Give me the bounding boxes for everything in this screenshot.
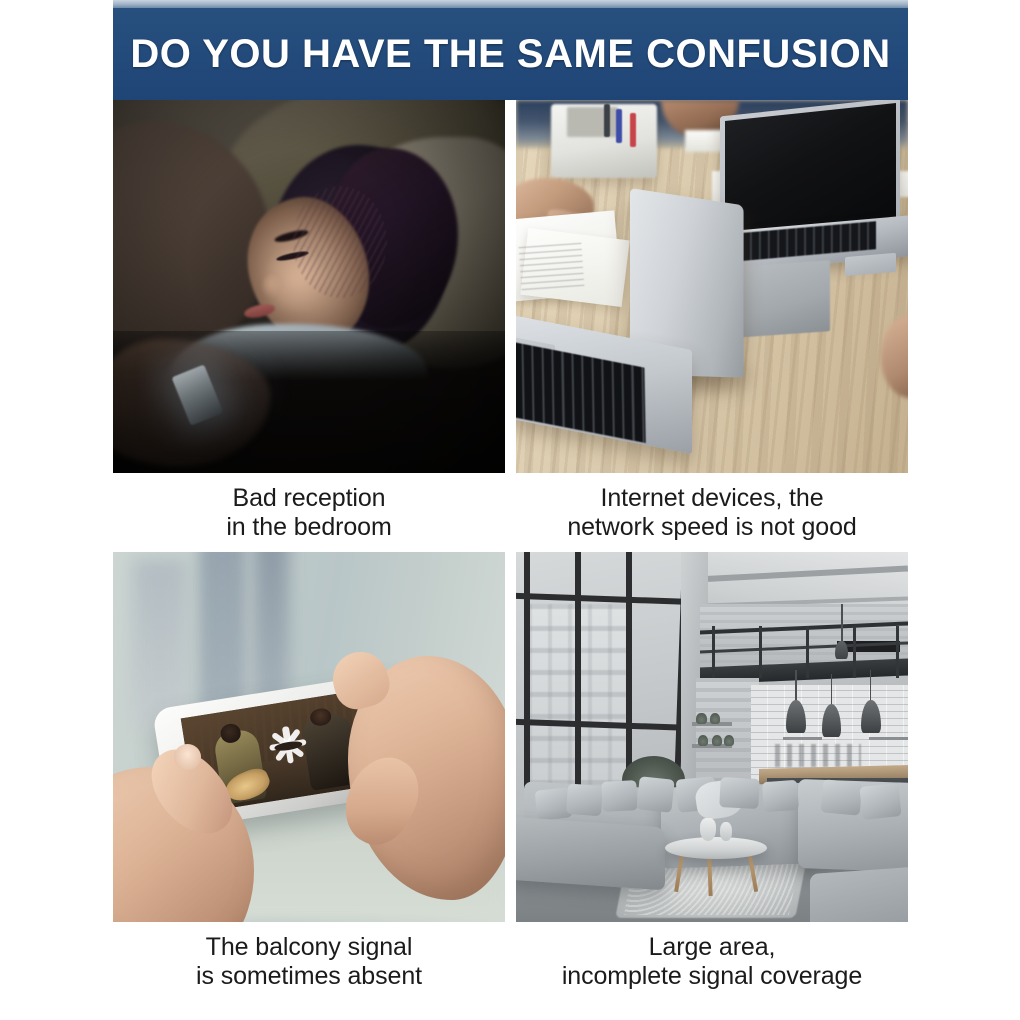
caption-loft: Large area, incomplete signal coverage xyxy=(516,922,908,991)
caption-loft-line2: incomplete signal coverage xyxy=(516,962,908,991)
loft-cushion-6 xyxy=(719,777,760,809)
office-pen-red xyxy=(630,113,636,147)
loft-shelf-plant-3 xyxy=(698,735,708,746)
page-title: DO YOU HAVE THE SAME CONFUSION xyxy=(130,32,890,77)
caption-office-line2: network speed is not good xyxy=(516,513,908,542)
loft-mezzanine-backwall xyxy=(700,604,908,667)
caption-office: Internet devices, the network speed is n… xyxy=(516,473,908,542)
loft-shelf-plant-4 xyxy=(712,735,722,746)
office-pen-black xyxy=(604,104,610,138)
loft-coffee-table xyxy=(665,837,767,859)
caption-phone-line2: is sometimes absent xyxy=(113,962,505,991)
office-organizer-slot xyxy=(567,107,618,137)
loft-shelf-plant-2 xyxy=(710,713,720,724)
photo-phone xyxy=(113,552,505,922)
caption-phone-line1: The balcony signal xyxy=(113,933,505,962)
caption-bedroom-line1: Bad reception xyxy=(113,484,505,513)
caption-bedroom: Bad reception in the bedroom xyxy=(113,473,505,542)
phone-building-left xyxy=(133,559,188,726)
loft-cushion-9 xyxy=(859,783,901,820)
loft-cushion-7 xyxy=(762,780,799,812)
loft-pendant-cord-1 xyxy=(795,670,796,703)
caption-phone: The balcony signal is sometimes absent xyxy=(113,922,505,991)
grid-row-2: The balcony signal is sometimes absent xyxy=(113,552,908,991)
card-bedroom[interactable]: Bad reception in the bedroom xyxy=(113,100,505,542)
loft-cushion-4 xyxy=(636,776,675,813)
loft-shelf-plant-1 xyxy=(696,713,706,724)
loft-pendant-lamp-tall xyxy=(835,641,848,660)
photo-bedroom xyxy=(113,100,505,473)
office-laptop-back-screen xyxy=(725,103,896,235)
feature-grid: Bad reception in the bedroom xyxy=(113,100,908,991)
caption-loft-line1: Large area, xyxy=(516,933,908,962)
loft-railing-post-4 xyxy=(853,626,856,678)
grid-row-1: Bad reception in the bedroom xyxy=(113,100,908,542)
loft-table-vase-2 xyxy=(720,822,732,841)
photo-office xyxy=(516,100,908,473)
top-accent-strip xyxy=(113,0,908,8)
loft-cushion-8 xyxy=(820,780,862,817)
loft-cushion-3 xyxy=(601,780,638,811)
loft-sofa-chaise xyxy=(516,817,665,891)
loft-back-wall xyxy=(696,678,759,782)
loft-table-vase-1 xyxy=(700,818,716,840)
loft-railing-post-2 xyxy=(759,626,762,678)
loft-railing-post-5 xyxy=(896,626,899,678)
loft-shelf-3 xyxy=(783,737,822,740)
loft-shelf-plant-5 xyxy=(724,735,734,746)
poster-root: DO YOU HAVE THE SAME CONFUSION xyxy=(0,0,1020,1020)
loft-shelf-4 xyxy=(869,737,908,740)
card-loft[interactable]: Large area, incomplete signal coverage xyxy=(516,552,908,991)
caption-bedroom-line2: in the bedroom xyxy=(113,513,505,542)
loft-railing-post-1 xyxy=(712,626,715,678)
loft-pendant-cord-tall xyxy=(841,604,842,645)
caption-office-line1: Internet devices, the xyxy=(516,484,908,513)
office-paper-text-lines xyxy=(518,243,584,292)
card-phone[interactable]: The balcony signal is sometimes absent xyxy=(113,552,505,991)
loft-railing-post-3 xyxy=(806,626,809,678)
loft-pendant-cord-3 xyxy=(870,670,871,703)
card-office[interactable]: Internet devices, the network speed is n… xyxy=(516,100,908,542)
loft-cushion-2 xyxy=(566,784,603,816)
header-banner: DO YOU HAVE THE SAME CONFUSION xyxy=(113,8,908,100)
bedroom-vignette xyxy=(113,100,505,473)
office-pen-blue xyxy=(616,109,622,143)
loft-pendant-cord-2 xyxy=(831,674,832,707)
loft-kitchen-items xyxy=(775,744,861,766)
photo-loft xyxy=(516,552,908,922)
loft-sofa-foreground xyxy=(810,866,908,922)
